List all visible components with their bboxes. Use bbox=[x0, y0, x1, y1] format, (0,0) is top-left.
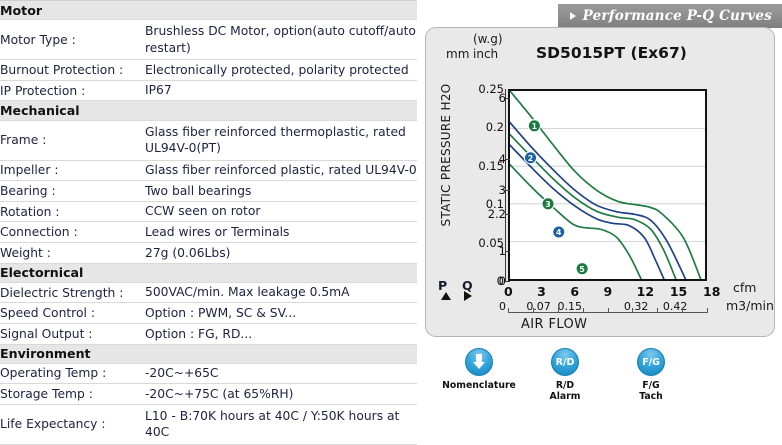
spec-key: Signal Output : bbox=[0, 323, 145, 344]
pq-curve-5 bbox=[510, 165, 641, 279]
x-tick-cfm: 18 bbox=[703, 284, 720, 299]
arrow-head bbox=[473, 362, 485, 369]
x-tick-cfm: 12 bbox=[637, 284, 654, 299]
spec-section-label: Electornical bbox=[0, 263, 417, 282]
x-axis-ticks-cfm: 0369121518 bbox=[500, 284, 725, 300]
pq-chart-panel: (w.g) mm inch SD5015PT (Ex67) STATIC PRE… bbox=[425, 27, 775, 337]
curve-badge-1: 1 bbox=[528, 120, 540, 132]
curve-badge-3: 3 bbox=[542, 198, 554, 210]
feature-icon-caption: Nomenclature bbox=[431, 380, 527, 391]
spec-value: Brushless DC Motor, option(auto cutoff/a… bbox=[145, 20, 417, 60]
spec-row: Connection :Lead wires or Terminals bbox=[0, 222, 417, 243]
spec-row: Storage Temp :-20C~+75C (at 65%RH) bbox=[0, 384, 417, 405]
spec-key: Speed Control : bbox=[0, 303, 145, 324]
caption-line-2: Alarm bbox=[517, 391, 613, 402]
badge-text-icon[interactable]: F/G bbox=[637, 348, 665, 376]
x-tick-cfm: 3 bbox=[537, 284, 546, 299]
feature-icon-row: NomenclatureR/DR/DAlarmF/GF/GTach bbox=[425, 348, 775, 438]
spec-section-label: Motor bbox=[0, 1, 417, 20]
pq-curve-4 bbox=[510, 145, 664, 279]
y-axis-unit-inch: inch bbox=[473, 47, 498, 61]
feature-icon-caption: R/DAlarm bbox=[517, 380, 613, 403]
spec-key: Dielectric Strength : bbox=[0, 282, 145, 303]
spec-key: Weight : bbox=[0, 242, 145, 263]
spec-value: Glass fiber reinforced thermoplastic, ra… bbox=[145, 120, 417, 160]
y-axis-label: STATIC PRESSURE H2O bbox=[439, 70, 453, 240]
y-tick-mark bbox=[505, 214, 510, 215]
y-tick-inch: 0.05 bbox=[478, 236, 504, 250]
x-ruler-tick bbox=[558, 308, 559, 313]
spec-row: Rotation :CCW seen on rotor bbox=[0, 201, 417, 222]
triangle-right-icon bbox=[464, 291, 472, 301]
spec-value: Electronically protected, polarity prote… bbox=[145, 60, 417, 81]
spec-value: -20C~+75C (at 65%RH) bbox=[145, 384, 417, 405]
spec-key: Impeller : bbox=[0, 160, 145, 181]
spec-key: Storage Temp : bbox=[0, 384, 145, 405]
y-tick-inch: 0.15 bbox=[478, 159, 504, 173]
spec-section-header: Motor bbox=[0, 1, 417, 20]
x-axis-unit-m3min: m3/min bbox=[726, 298, 774, 313]
x-tick-m3min: 0 bbox=[499, 300, 506, 313]
y-axis-unit-mm: mm bbox=[446, 47, 469, 61]
spec-section-label: Mechanical bbox=[0, 101, 417, 120]
y-tick-mark bbox=[505, 98, 510, 99]
spec-key: Operating Temp : bbox=[0, 363, 145, 384]
chart-title: SD5015PT (Ex67) bbox=[536, 44, 687, 62]
triangle-right-icon bbox=[570, 12, 576, 20]
feature-icon-fg-tach[interactable]: F/GF/GTach bbox=[603, 348, 699, 403]
spec-row: Operating Temp :-20C~+65C bbox=[0, 363, 417, 384]
caption-line-1: R/D bbox=[517, 380, 613, 391]
spec-row: Bearing :Two ball bearings bbox=[0, 181, 417, 202]
spec-value: Glass fiber reinforced plastic, rated UL… bbox=[145, 160, 417, 181]
caption-line-2: Tach bbox=[603, 391, 699, 402]
performance-pq-curves-banner: Performance P-Q Curves bbox=[558, 4, 782, 28]
x-tick-cfm: 9 bbox=[604, 284, 613, 299]
svg-text:2: 2 bbox=[528, 154, 533, 163]
spec-row: Dielectric Strength :500VAC/min. Max lea… bbox=[0, 282, 417, 303]
x-tick-cfm: 0 bbox=[504, 284, 513, 299]
badge-text-icon[interactable]: R/D bbox=[551, 348, 579, 376]
y-tick-inch: 0.25 bbox=[478, 82, 504, 96]
pq-curves-svg: 12345 bbox=[510, 91, 705, 279]
spec-key: Burnout Protection : bbox=[0, 60, 145, 81]
y-tick-mark bbox=[505, 159, 510, 160]
x-ruler-tick bbox=[583, 308, 584, 313]
spec-value: Lead wires or Terminals bbox=[145, 222, 417, 243]
x-ruler-tick bbox=[707, 308, 708, 313]
spec-value: 500VAC/min. Max leakage 0.5mA bbox=[145, 282, 417, 303]
spec-key: Life Expectancy : bbox=[0, 404, 145, 444]
svg-text:5: 5 bbox=[579, 265, 584, 274]
y-tick-mark bbox=[505, 190, 510, 191]
spec-value: Two ball bearings bbox=[145, 181, 417, 202]
feature-icon-nomenclature[interactable]: Nomenclature bbox=[431, 348, 527, 391]
spec-row: IP Protection :IP67 bbox=[0, 80, 417, 101]
spec-row: Impeller :Glass fiber reinforced plastic… bbox=[0, 160, 417, 181]
curve-badge-4: 4 bbox=[553, 226, 565, 238]
pq-plot-area: 12345 bbox=[508, 89, 707, 281]
spec-key: Motor Type : bbox=[0, 20, 145, 60]
x-ruler-tick bbox=[682, 308, 683, 313]
spec-value: CCW seen on rotor bbox=[145, 201, 417, 222]
spec-key: Rotation : bbox=[0, 201, 145, 222]
spec-value: L10 - B:70K hours at 40C / Y:50K hours a… bbox=[145, 404, 417, 444]
x-tick-cfm: 6 bbox=[570, 284, 579, 299]
banner-title: Performance P-Q Curves bbox=[583, 8, 772, 24]
spec-row: Frame :Glass fiber reinforced thermoplas… bbox=[0, 120, 417, 160]
svg-text:1: 1 bbox=[532, 122, 537, 131]
feature-icon-rd-alarm[interactable]: R/DR/DAlarm bbox=[517, 348, 613, 403]
spec-value: IP67 bbox=[145, 80, 417, 101]
spec-row: Burnout Protection :Electronically prote… bbox=[0, 60, 417, 81]
spec-key: Frame : bbox=[0, 120, 145, 160]
download-arrow-icon[interactable] bbox=[465, 348, 493, 376]
spec-row: Weight :27g (0.06Lbs) bbox=[0, 242, 417, 263]
x-ruler-tick bbox=[508, 308, 509, 313]
x-ruler-tick bbox=[632, 308, 633, 313]
spec-key: IP Protection : bbox=[0, 80, 145, 101]
spec-section-header: Environment bbox=[0, 344, 417, 363]
triangle-up-icon bbox=[441, 292, 451, 300]
spec-section-header: Mechanical bbox=[0, 101, 417, 120]
spec-key: Bearing : bbox=[0, 181, 145, 202]
x-ruler-tick bbox=[608, 308, 609, 313]
performance-chart-section: Performance P-Q Curves (w.g) mm inch SD5… bbox=[418, 0, 782, 445]
x-ruler-tick bbox=[533, 308, 534, 313]
spec-value: 27g (0.06Lbs) bbox=[145, 242, 417, 263]
curve-badge-2: 2 bbox=[524, 152, 536, 164]
spec-row: Motor Type :Brushless DC Motor, option(a… bbox=[0, 20, 417, 60]
badge-text: R/D bbox=[556, 357, 575, 368]
y-tick-inch: 0.1 bbox=[486, 197, 504, 211]
specification-table: MotorMotor Type :Brushless DC Motor, opt… bbox=[0, 0, 417, 445]
y-axis-unit-note: (w.g) bbox=[473, 32, 503, 46]
spec-section-label: Environment bbox=[0, 344, 417, 363]
spec-row: Life Expectancy :L10 - B:70K hours at 40… bbox=[0, 404, 417, 444]
x-axis-unit-cfm: cfm bbox=[733, 280, 756, 295]
p-marker-label: P bbox=[438, 278, 447, 293]
x-tick-cfm: 15 bbox=[670, 284, 687, 299]
spec-row: Signal Output :Option : FG, RD... bbox=[0, 323, 417, 344]
spec-value: Option : PWM, SC & SV... bbox=[145, 303, 417, 324]
spec-key: Connection : bbox=[0, 222, 145, 243]
y-tick-mark bbox=[505, 281, 510, 282]
svg-text:4: 4 bbox=[556, 228, 562, 237]
y-tick-mark bbox=[505, 251, 510, 252]
spec-value: Option : FG, RD... bbox=[145, 323, 417, 344]
spec-row: Speed Control :Option : PWM, SC & SV... bbox=[0, 303, 417, 324]
y-axis-ticks-inch: 00.050.10.150.20.25 bbox=[458, 83, 504, 288]
curve-badge-5: 5 bbox=[576, 263, 588, 275]
feature-icon-caption: F/GTach bbox=[603, 380, 699, 403]
x-axis-label: AIR FLOW bbox=[521, 317, 587, 332]
y-tick-inch: 0.2 bbox=[486, 120, 504, 134]
pq-curve-2 bbox=[510, 123, 686, 279]
x-ruler-tick bbox=[657, 308, 658, 313]
badge-text: F/G bbox=[642, 357, 660, 368]
spec-value: -20C~+65C bbox=[145, 363, 417, 384]
caption-line-1: F/G bbox=[603, 380, 699, 391]
spec-section-header: Electornical bbox=[0, 263, 417, 282]
svg-text:3: 3 bbox=[545, 200, 550, 209]
